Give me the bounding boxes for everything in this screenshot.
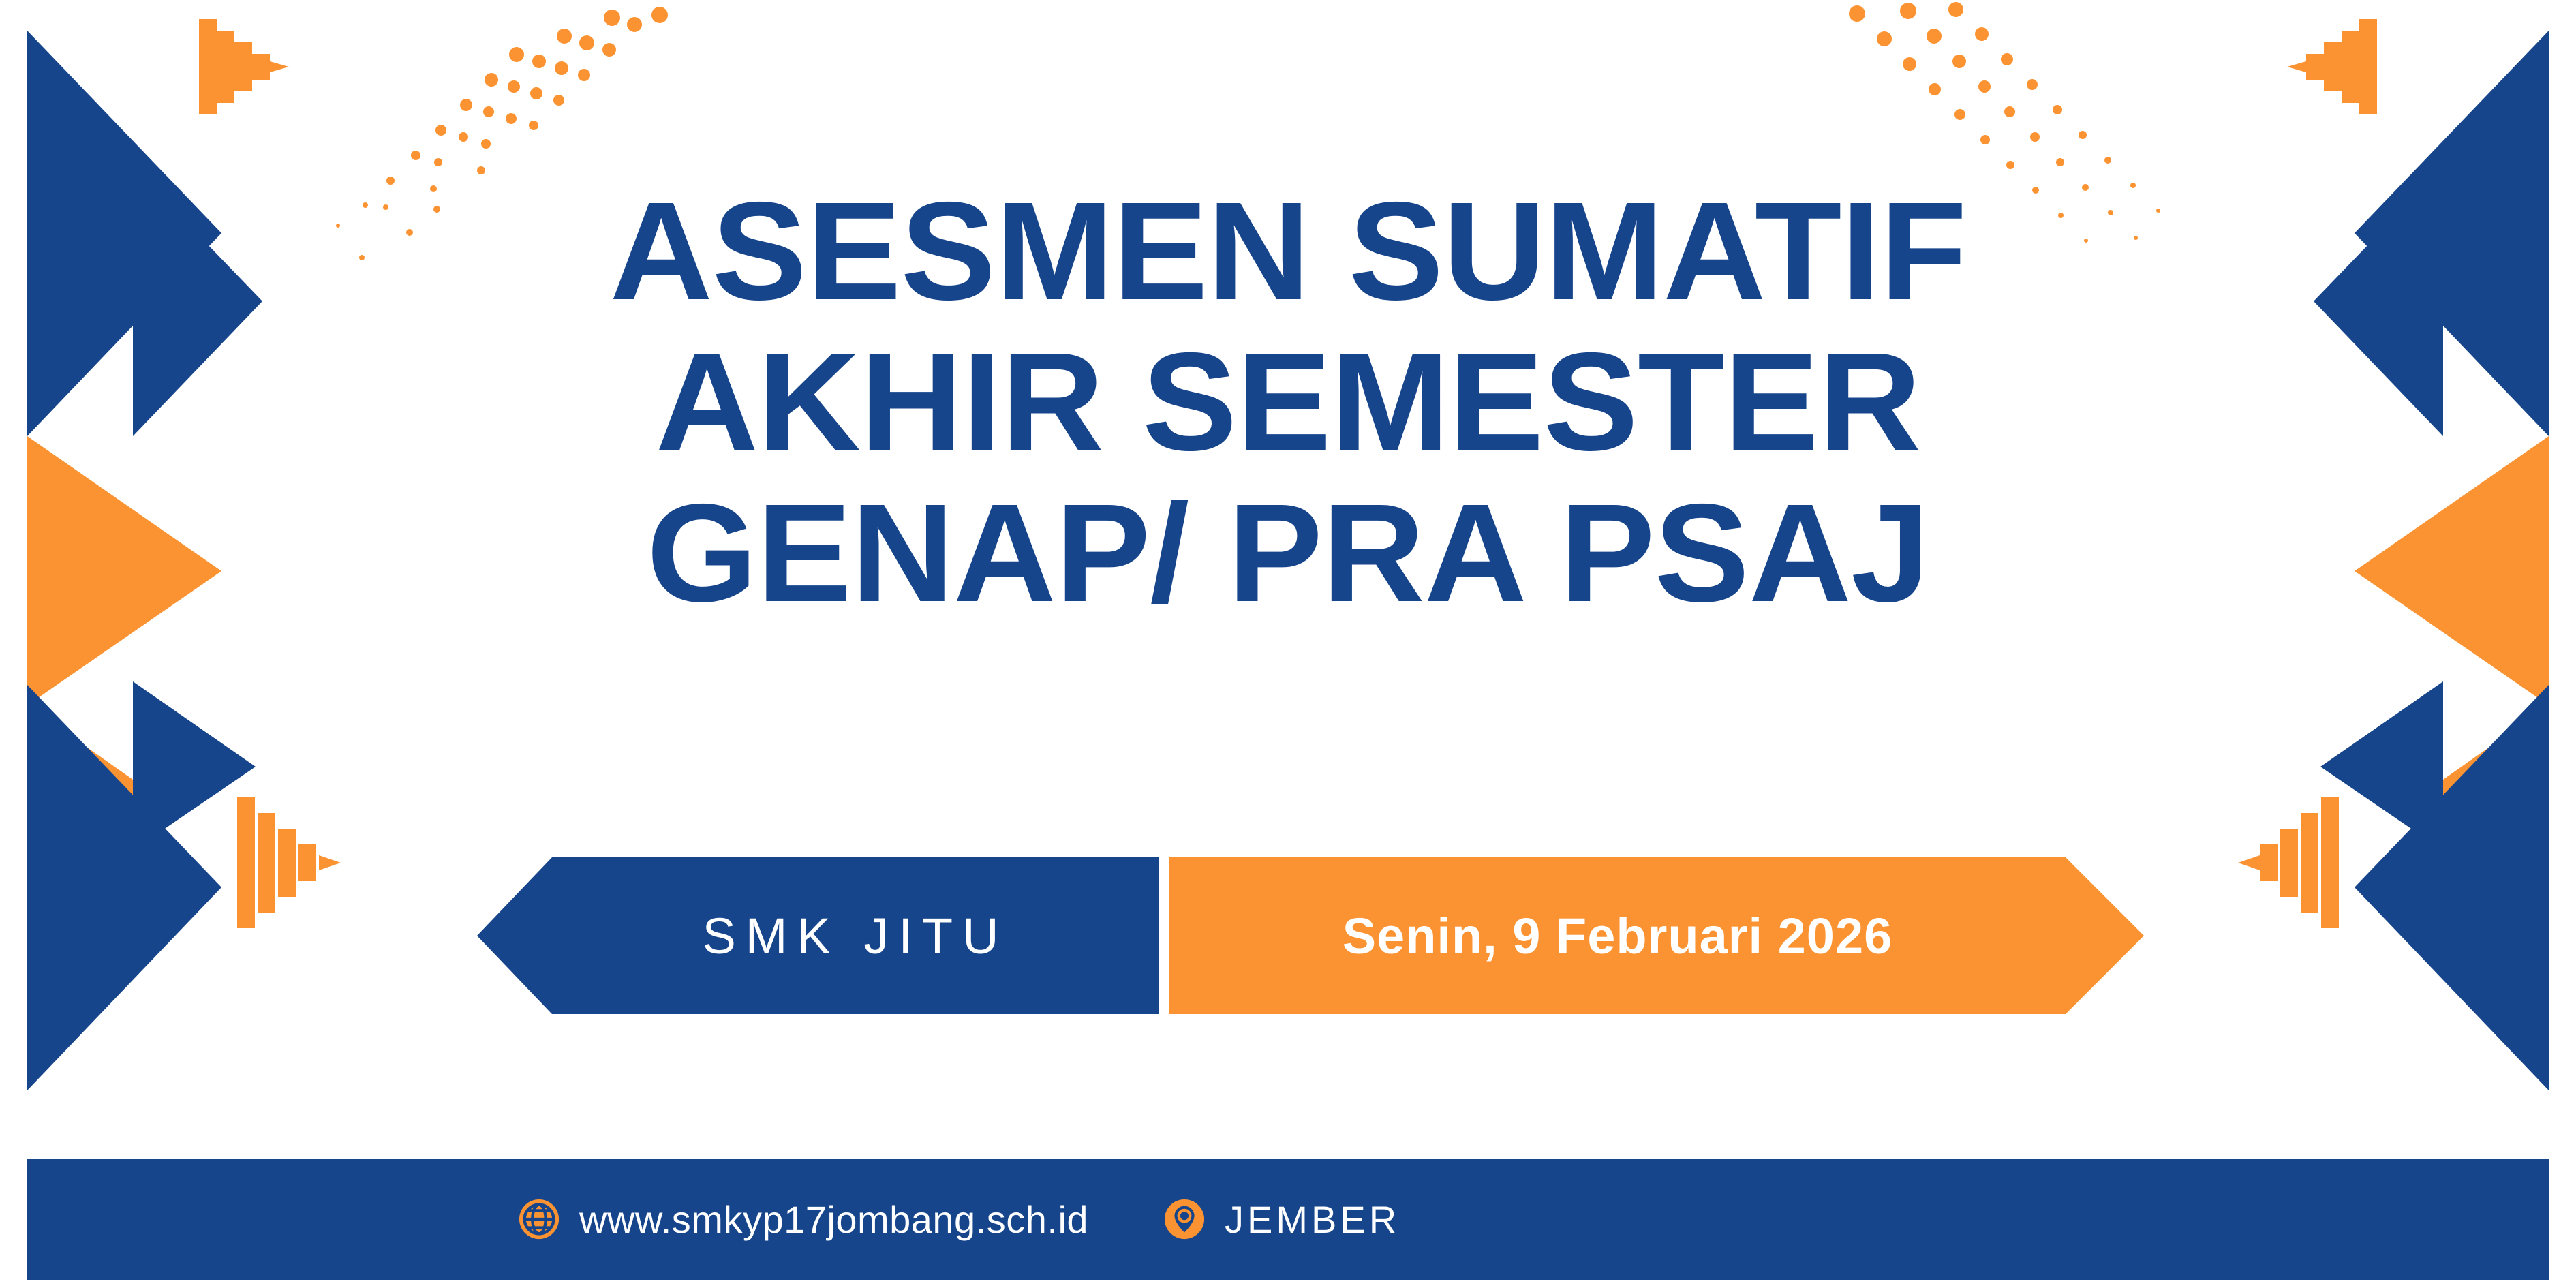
ribbon-school-name: SMK JITU (477, 857, 1159, 1014)
striped-triangle-top-left (199, 19, 289, 114)
footer-bar: www.smkyp17jombang.sch.id JEMBER (27, 1159, 2549, 1280)
banner-canvas: ASESMEN SUMATIF AKHIR SEMESTER GENAP/ PR… (0, 0, 2576, 1288)
striped-triangle-top-right (2287, 19, 2377, 114)
headline-line-1: ASESMEN SUMATIF (0, 176, 2576, 326)
footer-location-text: JEMBER (1225, 1197, 1400, 1242)
headline-line-2: AKHIR SEMESTER (0, 326, 2576, 477)
footer-location-item[interactable]: JEMBER (1163, 1197, 1400, 1242)
map-pin-icon (1163, 1198, 1206, 1240)
footer-website-item[interactable]: www.smkyp17jombang.sch.id (518, 1197, 1088, 1242)
page-title: ASESMEN SUMATIF AKHIR SEMESTER GENAP/ PR… (0, 176, 2576, 628)
footer-website-text: www.smkyp17jombang.sch.id (579, 1197, 1088, 1242)
globe-icon (518, 1198, 560, 1240)
headline-line-3: GENAP/ PRA PSAJ (0, 478, 2576, 628)
striped-triangle-bottom-right (2238, 797, 2339, 928)
ribbon-date: Senin, 9 Februari 2026 (1169, 857, 2144, 1014)
striped-triangle-bottom-left (237, 797, 341, 928)
info-ribbon: SMK JITU Senin, 9 Februari 2026 (477, 857, 2144, 1014)
